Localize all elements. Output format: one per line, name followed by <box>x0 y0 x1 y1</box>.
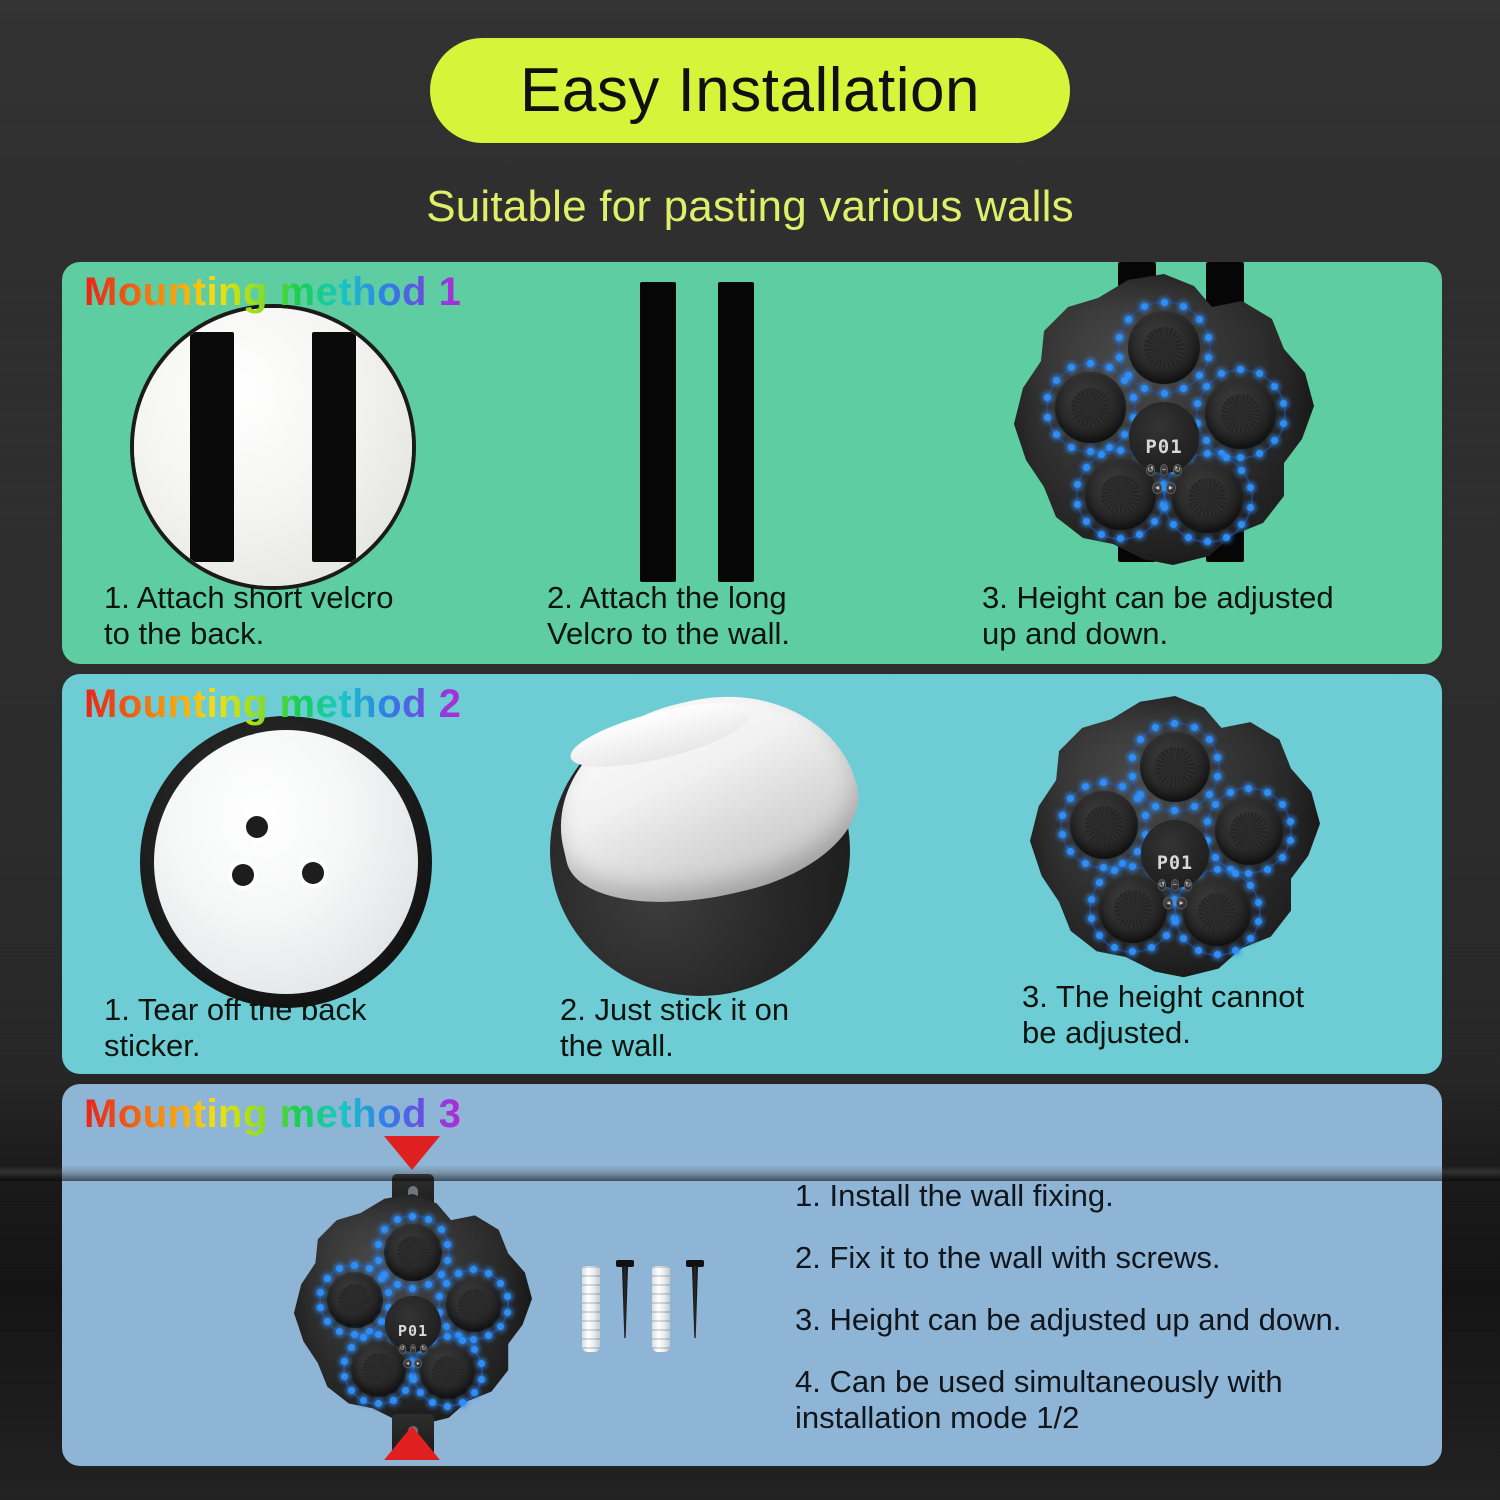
led-dot <box>1287 837 1294 844</box>
led-dot <box>1237 454 1244 461</box>
led-dot <box>1111 944 1118 951</box>
arrow-up-icon <box>384 1426 440 1460</box>
pad-face <box>1205 378 1275 448</box>
method-1-step-2: 2. Attach the long Velcro to the wall. <box>547 580 947 653</box>
led-dot <box>1044 414 1051 421</box>
screw-head <box>616 1260 634 1267</box>
led-dot <box>1082 860 1089 867</box>
led-dot <box>1083 464 1090 471</box>
control-button-bottom-1-icon[interactable]: ◂ <box>1152 482 1162 494</box>
led-dot <box>324 1275 331 1282</box>
pad-face <box>1128 311 1201 384</box>
led-dot <box>348 1387 355 1394</box>
pad-face <box>1215 797 1283 865</box>
mount-hole <box>302 862 324 884</box>
led-dot <box>1134 795 1141 802</box>
method-3-step-3: 3. Height can be adjusted up and down. <box>795 1302 1415 1338</box>
led-dot <box>1185 534 1192 541</box>
led-dot <box>497 1280 504 1287</box>
led-dot <box>1106 444 1113 451</box>
control-button-bottom-2-icon[interactable]: ▸ <box>414 1359 422 1369</box>
short-velcro-strip <box>190 332 234 562</box>
screw-shaft <box>692 1266 698 1338</box>
screw-head <box>686 1260 704 1267</box>
photo-short-velcro-on-back <box>134 308 412 586</box>
wall-anchor-icon <box>652 1266 670 1352</box>
target-pad-3[interactable] <box>438 1269 509 1340</box>
led-dot <box>438 1226 445 1233</box>
method-3-step-1: 1. Install the wall fixing. <box>795 1178 1415 1214</box>
control-button-bottom-row: ◂▸ <box>403 1359 422 1369</box>
control-button-top-3-icon[interactable]: ↻ <box>1173 464 1182 476</box>
led-dot <box>360 1397 367 1404</box>
led-dot <box>429 1399 436 1406</box>
led-dot <box>1247 504 1254 511</box>
panel-mounting-method-2: Mounting method 2 P01↺−↻◂▸ 1. Tear off t… <box>62 674 1442 1074</box>
led-dot <box>1255 918 1262 925</box>
led-dot <box>455 1270 462 1277</box>
boxing-machine-device: P01↺−↻◂▸ <box>1014 274 1314 574</box>
pad-face <box>446 1277 502 1333</box>
led-dot <box>1074 501 1081 508</box>
led-dot <box>1059 831 1066 838</box>
led-dot <box>1279 801 1286 808</box>
control-button-top-1-icon[interactable]: ↺ <box>1158 879 1167 891</box>
method-3-label: Mounting method 3 <box>84 1092 461 1137</box>
led-dot <box>1141 385 1148 392</box>
pad-face <box>327 1272 383 1328</box>
led-dot <box>1232 947 1239 954</box>
led-dot <box>1098 531 1105 538</box>
led-dot <box>1212 854 1219 861</box>
method-3-instruction-list: 1. Install the wall fixing. 2. Fix it to… <box>795 1178 1415 1462</box>
led-dot <box>459 1337 466 1344</box>
panel-mounting-method-1: Mounting method 1 P01↺−↻◂▸ 1. Attach sho… <box>62 262 1442 664</box>
page-title-pill: Easy Installation <box>430 38 1070 143</box>
led-dot <box>1134 848 1141 855</box>
target-pad-2[interactable] <box>1060 782 1147 869</box>
method-2-label: Mounting method 2 <box>84 682 461 727</box>
led-dot <box>390 1397 397 1404</box>
display-code: P01 <box>1145 438 1182 457</box>
control-button-top-3-icon[interactable]: ↻ <box>1184 879 1193 891</box>
led-dot <box>470 1336 477 1343</box>
control-button-top-row: ↺−↻ <box>1158 879 1193 891</box>
device-back-plate <box>134 308 412 586</box>
led-dot <box>1161 504 1168 511</box>
led-dot <box>1191 803 1198 810</box>
mount-hole <box>246 816 268 838</box>
control-display[interactable]: P01↺−↻◂▸ <box>1129 402 1200 473</box>
led-dot <box>1214 951 1221 958</box>
arrow-down-icon <box>384 1136 440 1170</box>
led-dot <box>1191 724 1198 731</box>
led-dot <box>385 1289 392 1296</box>
led-dot <box>1255 899 1262 906</box>
led-dot <box>1247 935 1254 942</box>
led-dot <box>1148 944 1155 951</box>
pad-face <box>1172 462 1242 532</box>
control-button-top-2-icon[interactable]: − <box>1160 464 1169 476</box>
led-dot <box>375 1331 382 1338</box>
led-dot <box>1163 932 1170 939</box>
led-dot <box>1264 789 1271 796</box>
led-dot <box>1280 420 1287 427</box>
led-dot <box>1204 818 1211 825</box>
short-velcro-strip <box>312 332 356 562</box>
led-dot <box>1206 736 1213 743</box>
control-button-bottom-2-icon[interactable]: ▸ <box>1166 482 1176 494</box>
display-code: P01 <box>398 1324 428 1339</box>
led-dot <box>1141 303 1148 310</box>
control-display[interactable]: P01↺−↻◂▸ <box>385 1296 441 1352</box>
led-dot <box>1271 383 1278 390</box>
led-dot <box>360 1334 367 1341</box>
led-dot <box>351 1262 358 1269</box>
led-dot <box>1087 448 1094 455</box>
target-pad-1[interactable] <box>1118 301 1211 394</box>
control-display[interactable]: P01↺−↻◂▸ <box>1141 820 1209 888</box>
led-dot <box>1223 534 1230 541</box>
pad-face <box>1140 732 1210 802</box>
led-dot <box>317 1289 324 1296</box>
long-velcro-strip <box>718 282 754 582</box>
control-button-bottom-1-icon[interactable]: ◂ <box>1163 897 1173 909</box>
led-dot <box>1136 531 1143 538</box>
boxing-machine-device: P01↺−↻◂▸ <box>1030 696 1320 986</box>
led-dot <box>443 1323 450 1330</box>
led-dot <box>1206 791 1213 798</box>
control-button-bottom-1-icon[interactable]: ◂ <box>403 1359 411 1369</box>
led-dot <box>1214 866 1221 873</box>
led-dot <box>438 1271 445 1278</box>
led-dot <box>1068 444 1075 451</box>
led-dot <box>459 1399 466 1406</box>
led-dot <box>478 1376 485 1383</box>
led-dot <box>1161 299 1168 306</box>
method-2-step-3: 3. The height cannot be adjusted. <box>1022 979 1442 1052</box>
page-title: Easy Installation <box>520 60 980 122</box>
led-dot <box>1212 801 1219 808</box>
target-pad-2[interactable] <box>319 1264 390 1335</box>
method-1-step-1: 1. Attach short velcro to the back. <box>104 580 504 653</box>
led-dot <box>1196 316 1203 323</box>
led-dot <box>1203 383 1210 390</box>
led-dot <box>341 1358 348 1365</box>
target-pad-2[interactable] <box>1046 363 1136 453</box>
led-dot <box>444 1403 451 1410</box>
led-dot <box>1117 447 1124 454</box>
led-dot <box>410 1376 417 1383</box>
led-dot <box>504 1309 511 1316</box>
control-button-top-row: ↺−↻ <box>1146 464 1182 476</box>
control-button-top-row: ↺−↻ <box>399 1344 428 1354</box>
control-button-top-1-icon[interactable]: ↺ <box>399 1344 406 1354</box>
pad-face <box>420 1343 476 1399</box>
screw-icon <box>684 1260 706 1352</box>
led-dot <box>1117 535 1124 542</box>
led-dot <box>1121 377 1128 384</box>
led-dot <box>1264 866 1271 873</box>
led-dot <box>1129 773 1136 780</box>
anchor-body <box>582 1266 600 1352</box>
target-pad-3[interactable] <box>1196 369 1286 459</box>
method-3-step-2: 2. Fix it to the wall with screws. <box>795 1240 1415 1276</box>
led-dot <box>1204 450 1211 457</box>
boxing-machine-device: P01↺−↻◂▸ <box>294 1194 532 1432</box>
led-dot <box>1053 377 1060 384</box>
display-code: P01 <box>1157 855 1193 873</box>
infographic-page: Easy Installation Suitable for pasting v… <box>0 0 1500 1500</box>
control-button-bottom-row: ◂▸ <box>1163 897 1186 909</box>
pad-face <box>1183 878 1251 946</box>
pad-face <box>1055 372 1125 442</box>
led-dot <box>1087 360 1094 367</box>
target-pad-1[interactable] <box>1130 722 1220 812</box>
led-dot <box>1204 538 1211 545</box>
control-button-bottom-row: ◂▸ <box>1152 482 1176 494</box>
control-button-top-3-icon[interactable]: ↻ <box>420 1344 427 1354</box>
led-dot <box>1237 366 1244 373</box>
led-dot <box>1247 882 1254 889</box>
anchor-body <box>652 1266 670 1352</box>
led-dot <box>1195 947 1202 954</box>
control-button-top-1-icon[interactable]: ↺ <box>1146 464 1155 476</box>
led-dot <box>1161 390 1168 397</box>
led-dot <box>1129 754 1136 761</box>
led-dot <box>1238 467 1245 474</box>
led-dot <box>1205 334 1212 341</box>
method-1-label: Mounting method 1 <box>84 270 461 315</box>
led-dot <box>478 1360 485 1367</box>
led-dot <box>1227 789 1234 796</box>
photo-adhesive-disc <box>140 716 432 1008</box>
led-dot <box>1279 854 1286 861</box>
control-button-bottom-2-icon[interactable]: ▸ <box>1176 897 1186 909</box>
led-dot <box>1205 354 1212 361</box>
method-3-step-4: 4. Can be used simultaneously with insta… <box>795 1364 1415 1436</box>
wall-anchor-icon <box>582 1266 600 1352</box>
pad-face <box>384 1224 442 1282</box>
photo-peel-backing-sticker <box>550 706 850 996</box>
led-dot <box>348 1344 355 1351</box>
led-dot <box>1125 316 1132 323</box>
led-dot <box>375 1257 382 1264</box>
method-2-step-2: 2. Just stick it on the wall. <box>560 992 960 1065</box>
control-button-top-2-icon[interactable]: − <box>410 1344 417 1354</box>
method-1-step-3: 3. Height can be adjusted up and down. <box>982 580 1422 653</box>
pad-face <box>1070 791 1138 859</box>
led-dot <box>336 1328 343 1335</box>
control-button-top-2-icon[interactable]: − <box>1171 879 1180 891</box>
led-dot <box>443 1280 450 1287</box>
screw-icon <box>614 1260 636 1352</box>
adhesive-sticker-surface <box>154 730 418 994</box>
target-pad-1[interactable] <box>376 1215 450 1289</box>
led-dot <box>1116 334 1123 341</box>
led-dot <box>375 1241 382 1248</box>
screw-shaft <box>622 1266 628 1338</box>
long-velcro-strip <box>640 282 676 582</box>
led-dot <box>1256 450 1263 457</box>
method-2-step-1: 1. Tear off the back sticker. <box>104 992 504 1065</box>
led-dot <box>1287 818 1294 825</box>
mount-hole <box>232 864 254 886</box>
led-dot <box>394 1281 401 1288</box>
page-subtitle: Suitable for pasting various walls <box>0 182 1500 232</box>
led-dot <box>1142 812 1149 819</box>
